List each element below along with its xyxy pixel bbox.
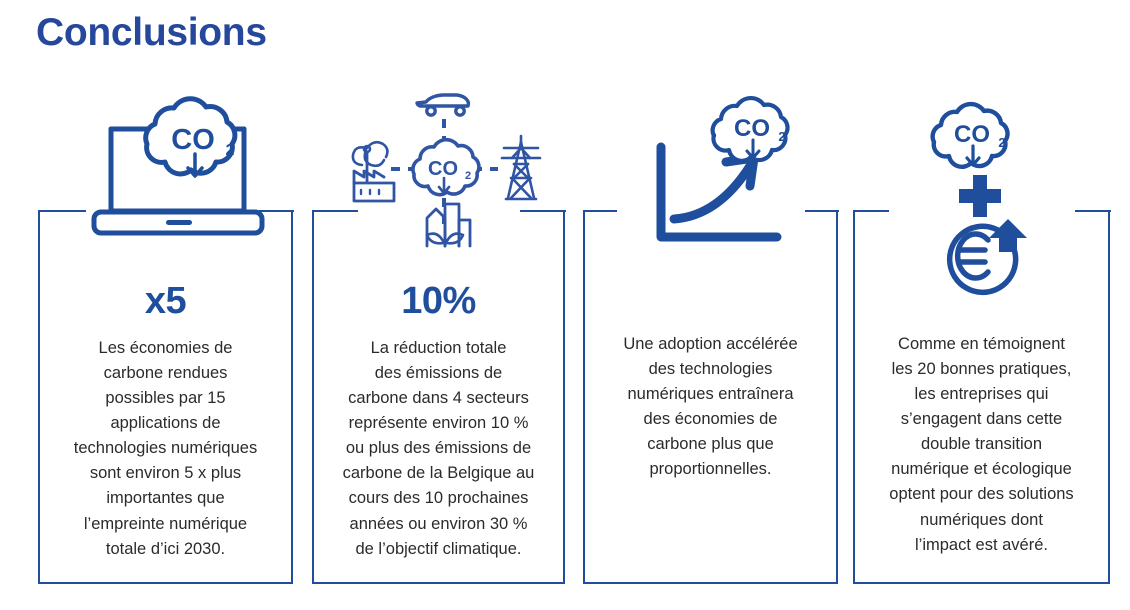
card-top-border-right [1075,210,1111,213]
card-4-body: Comme en témoignent les 20 bonnes pratiq… [867,332,1096,558]
growth-chart-co2-icon: CO 2 [640,100,820,252]
conclusion-card-3: Une adoption accélérée des technologies … [583,212,838,584]
co2-sectors-network-icon: CO 2 [336,86,552,256]
svg-text:CO: CO [734,115,770,142]
card-3-body: Une adoption accélérée des technologies … [597,332,824,482]
svg-text:2: 2 [998,135,1005,150]
laptop-co2-cloud-icon: CO 2 [78,96,278,248]
card-1-stat: x5 [52,282,279,320]
card-1-body: Les économies de carbone rendues possibl… [52,336,279,562]
card-top-border-left [583,210,617,213]
conclusion-card-2: 10% La réduction totale des émissions de… [312,212,565,584]
page-title: Conclusions [36,12,267,55]
svg-text:CO: CO [171,124,215,156]
card-2-body: La réduction totale des émissions de car… [326,336,551,562]
svg-text:2: 2 [226,142,235,159]
infographic-page: Conclusions x5 Les économies de carbone … [0,0,1130,610]
svg-text:2: 2 [778,129,785,144]
card-2-stat: 10% [326,282,551,320]
co2-plus-euro-growth-icon: CO 2 [918,100,1048,300]
svg-text:2: 2 [465,170,471,182]
svg-text:CO: CO [954,121,990,148]
card-top-border-left [853,210,889,213]
svg-text:CO: CO [428,158,458,180]
conclusion-card-1: x5 Les économies de carbone rendues poss… [38,212,293,584]
